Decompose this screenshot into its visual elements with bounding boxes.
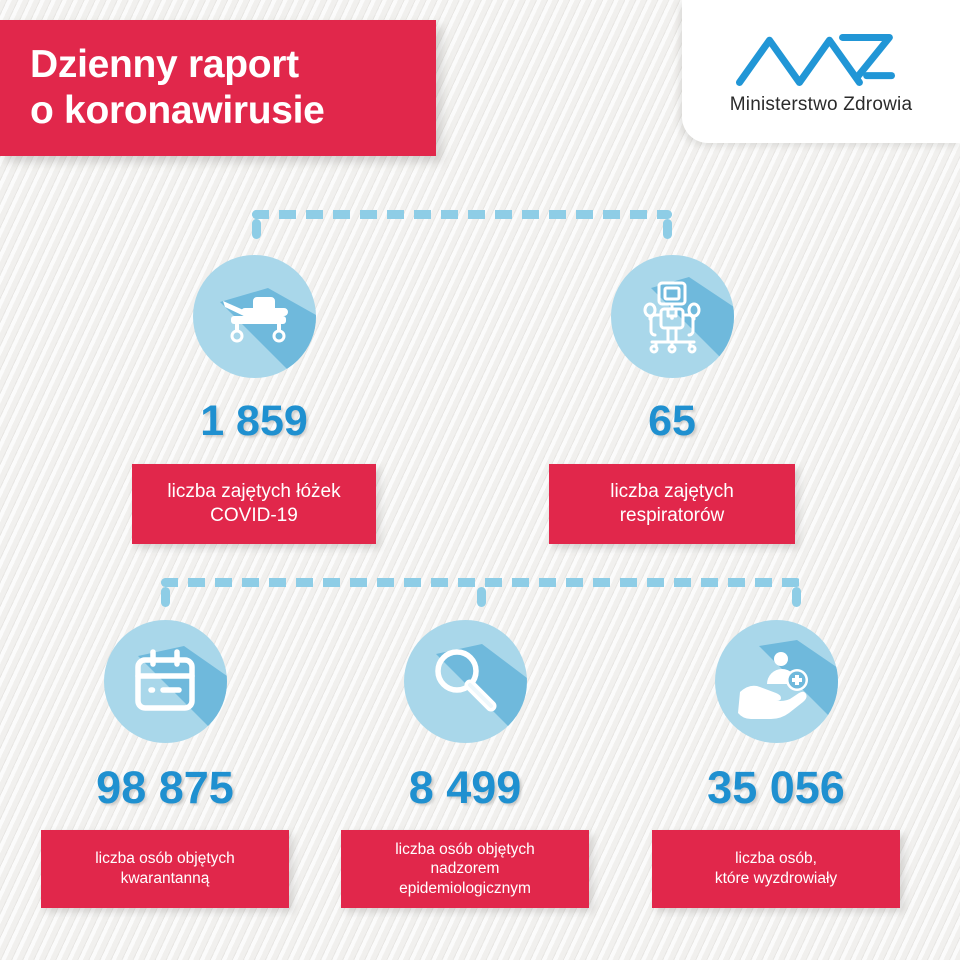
connector-rail-top: [252, 210, 672, 219]
stat-label-line-1: liczba zajętych łóżek: [167, 480, 340, 504]
stat-label-line-1: liczba osób objętych: [395, 840, 535, 860]
title-banner: Dzienny raport o koronawirusie: [0, 20, 436, 156]
stat-label-line-3: epidemiologicznym: [399, 879, 531, 899]
stat-label-line-1: liczba osób,: [735, 849, 817, 869]
stat-label-line-2: nadzorem: [431, 859, 500, 879]
hospital-gurney-icon: [193, 255, 316, 378]
magnifying-glass-icon: [404, 620, 527, 743]
hand-with-plus-glyph-icon: [734, 640, 818, 724]
connector-stub-top-right: [663, 219, 672, 239]
stat-label-recovered: liczba osób, które wyzdrowiały: [652, 830, 900, 908]
stat-card-quarantine: 98 875 liczba osób objętych kwarantanną: [41, 620, 289, 908]
ventilator-icon: [611, 255, 734, 378]
mz-underline-icon: [863, 72, 895, 79]
stat-label-occupied-ventilators: liczba zajętych respiratorów: [549, 464, 795, 544]
connector-stub-bottom-left: [161, 587, 170, 607]
ministry-logo-text: Ministerstwo Zdrowia: [730, 94, 912, 116]
stat-card-epidemiological-supervision: 8 499 liczba osób objętych nadzorem epid…: [341, 620, 589, 908]
stat-label-line-2: COVID-19: [210, 504, 298, 528]
ventilator-glyph-icon: [632, 277, 712, 357]
magnifier-glyph-icon: [427, 644, 503, 720]
calendar-icon: [104, 620, 227, 743]
stat-label-line-2: które wyzdrowiały: [715, 869, 837, 889]
stat-label-occupied-beds: liczba zajętych łóżek COVID-19: [132, 464, 376, 544]
connector-rail-top-line: [252, 210, 672, 219]
stat-value-occupied-beds: 1 859: [200, 400, 308, 443]
page-title-line-1: Dzienny raport: [30, 42, 436, 88]
stat-label-line-1: liczba osób objętych: [95, 849, 235, 869]
stat-label-epidemiological-supervision: liczba osób objętych nadzorem epidemiolo…: [341, 830, 589, 908]
stat-label-line-1: liczba zajętych: [610, 480, 734, 504]
gurney-glyph-icon: [215, 278, 293, 356]
stat-value-recovered: 35 056: [707, 765, 845, 810]
stat-card-occupied-beds: 1 859 liczba zajętych łóżek COVID-19: [132, 255, 376, 544]
stat-card-recovered: 35 056 liczba osób, które wyzdrowiały: [652, 620, 900, 908]
infographic-stage: Dzienny raport o koronawirusie Ministers…: [0, 0, 960, 960]
stat-label-line-2: kwarantanną: [121, 869, 210, 889]
connector-stub-top-left: [252, 219, 261, 239]
connector-rail-bottom-line: [161, 578, 801, 587]
page-title-line-2: o koronawirusie: [30, 88, 436, 134]
connector-stub-bottom-center: [477, 587, 486, 607]
stat-label-quarantine: liczba osób objętych kwarantanną: [41, 830, 289, 908]
stat-value-quarantine: 98 875: [96, 765, 234, 810]
mz-zigzag-logo-icon: [732, 28, 910, 90]
connector-rail-bottom: [161, 578, 801, 587]
connector-stub-bottom-right: [792, 587, 801, 607]
stat-value-occupied-ventilators: 65: [648, 400, 696, 443]
calendar-glyph-icon: [129, 646, 201, 718]
stat-label-line-2: respiratorów: [620, 504, 725, 528]
stat-value-epidemiological-supervision: 8 499: [409, 765, 522, 810]
ministry-logo-card: Ministerstwo Zdrowia: [682, 0, 960, 143]
stat-card-occupied-ventilators: 65 liczba zajętych respiratorów: [549, 255, 795, 544]
hand-care-icon: [715, 620, 838, 743]
